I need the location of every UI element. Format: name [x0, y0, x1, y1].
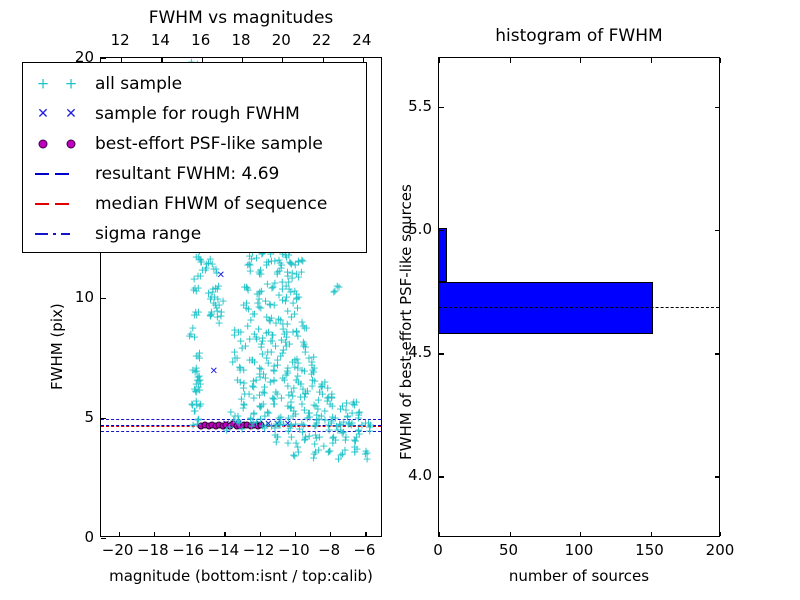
legend-item[interactable]: ✕✕sample for rough FWHM — [23, 99, 366, 128]
data-point-all-sample: + — [270, 360, 279, 371]
x-tick-label-bottom: −20 — [102, 541, 134, 559]
right-xaxis-label: number of sources — [438, 567, 720, 585]
data-point-all-sample: + — [254, 267, 263, 278]
data-point-all-sample: + — [236, 365, 245, 376]
data-point-all-sample: + — [255, 371, 264, 382]
figure-canvas: FWHM vs magnitudes 12141618202224 −20−18… — [0, 0, 800, 600]
x-tick-bottom — [189, 532, 190, 537]
legend-item-label: resultant FWHM: 4.69 — [95, 164, 279, 184]
data-point-all-sample: + — [332, 420, 341, 431]
data-point-all-sample: + — [293, 363, 302, 374]
data-point-all-sample: + — [330, 285, 339, 296]
y-tick-right — [715, 230, 720, 231]
data-point-all-sample: + — [230, 346, 239, 357]
data-point-all-sample: + — [284, 426, 293, 437]
data-point-all-sample: + — [188, 322, 197, 333]
annotation-line-resultant-fwhm — [439, 307, 719, 308]
data-point-all-sample: + — [263, 278, 272, 289]
dash-icon — [35, 173, 49, 175]
x-tick-bottom — [154, 532, 155, 537]
data-point-all-sample: + — [312, 409, 321, 420]
data-point-all-sample: + — [247, 354, 256, 365]
circle-icon — [39, 139, 48, 148]
x-tick-bottom — [224, 532, 225, 537]
x-tick-label-top: 14 — [151, 31, 170, 49]
x-tick-bottom — [330, 532, 331, 537]
x-tick-label: 200 — [706, 541, 735, 559]
data-point-all-sample: + — [261, 295, 270, 306]
y-tick-left — [101, 298, 106, 299]
data-point-all-sample: + — [309, 367, 318, 378]
x-tick-top — [510, 58, 511, 63]
data-point-all-sample: + — [195, 348, 204, 359]
legend-marker-dashdot-line — [23, 219, 95, 248]
y-tick-left — [439, 230, 444, 231]
y-tick-left — [101, 58, 106, 59]
x-tick-label-top: 16 — [191, 31, 210, 49]
cross-icon: ✕ — [37, 107, 49, 121]
data-point-all-sample: + — [263, 346, 272, 357]
y-tick-left — [101, 538, 106, 539]
data-point-all-sample: + — [242, 302, 251, 313]
x-tick-label: 150 — [635, 541, 664, 559]
y-tick-label: 5 — [56, 408, 94, 426]
legend-marker-cross: ✕✕ — [23, 99, 95, 128]
x-tick-top — [720, 58, 721, 63]
left-panel-title: FWHM vs magnitudes — [100, 8, 382, 28]
x-tick-label-top: 20 — [272, 31, 291, 49]
data-point-all-sample: + — [284, 389, 293, 400]
legend-item-label: sample for rough FWHM — [95, 104, 300, 124]
data-point-all-sample: + — [258, 421, 267, 432]
data-point-all-sample: + — [189, 273, 198, 284]
legend-item-label: sigma range — [95, 224, 201, 244]
x-tick-top — [439, 58, 440, 63]
data-point-all-sample: + — [243, 320, 252, 331]
x-tick-bottom — [260, 532, 261, 537]
dashdot-icon — [53, 233, 56, 235]
plus-icon: + — [37, 76, 50, 91]
histogram-plot-area — [439, 58, 719, 536]
x-tick-label-top: 22 — [312, 31, 331, 49]
data-point-all-sample: + — [296, 392, 305, 403]
data-point-all-sample: + — [192, 309, 201, 320]
legend-marker-dot — [23, 129, 95, 158]
data-point-all-sample: + — [255, 390, 264, 401]
data-point-all-sample: + — [309, 352, 318, 363]
data-point-all-sample: + — [290, 309, 299, 320]
x-tick-label-top: 18 — [231, 31, 250, 49]
right-panel-title: histogram of FWHM — [438, 26, 720, 46]
data-point-all-sample: + — [269, 374, 278, 385]
data-point-all-sample: + — [230, 325, 239, 336]
dashdot-icon — [61, 233, 70, 235]
histogram-bar[interactable] — [439, 282, 653, 334]
plus-icon: + — [65, 76, 78, 91]
x-tick-bottom — [720, 532, 721, 537]
data-point-all-sample: + — [349, 396, 358, 407]
data-point-all-sample: + — [282, 291, 291, 302]
x-tick-label: 0 — [433, 541, 443, 559]
legend-item[interactable]: best-effort PSF-like sample — [23, 129, 366, 158]
data-point-all-sample: + — [211, 263, 220, 274]
data-point-all-sample: + — [248, 417, 257, 428]
legend-item-label: median FHWM of sequence — [95, 194, 327, 214]
x-tick-top — [580, 58, 581, 63]
y-tick-left — [439, 476, 444, 477]
data-point-all-sample: + — [292, 374, 301, 385]
circle-icon — [67, 139, 76, 148]
legend-item[interactable]: resultant FWHM: 4.69 — [23, 159, 366, 188]
x-tick-label-top: 24 — [352, 31, 371, 49]
x-tick-label: 100 — [565, 541, 594, 559]
data-point-all-sample: + — [297, 267, 306, 278]
data-point-all-sample: + — [268, 335, 277, 346]
data-point-all-sample: + — [323, 392, 332, 403]
x-tick-bottom — [439, 532, 440, 537]
data-point-all-sample: + — [289, 450, 298, 461]
data-point-all-sample: + — [283, 438, 292, 449]
data-point-all-sample: + — [282, 326, 291, 337]
legend-marker-plus: ++ — [23, 69, 95, 98]
x-tick-label-bottom: −12 — [243, 541, 275, 559]
data-point-all-sample: + — [270, 393, 279, 404]
data-point-all-sample: + — [341, 434, 350, 445]
legend-marker-dashed-line — [23, 159, 95, 188]
data-point-all-sample: + — [214, 318, 223, 329]
legend-item[interactable]: ++all sample — [23, 69, 366, 98]
x-tick-label-bottom: −18 — [137, 541, 169, 559]
data-point-all-sample: + — [365, 426, 374, 437]
dash-icon — [55, 173, 69, 175]
x-tick-bottom — [119, 532, 120, 537]
x-tick-bottom — [295, 532, 296, 537]
x-tick-label-top: 12 — [111, 31, 130, 49]
data-point-all-sample: + — [352, 444, 361, 455]
x-tick-bottom — [510, 532, 511, 537]
data-point-all-sample: + — [192, 400, 201, 411]
data-point-all-sample: + — [292, 289, 301, 300]
y-tick-label: 5.5 — [382, 97, 432, 115]
data-point-all-sample: + — [270, 430, 279, 441]
x-tick-label: 50 — [499, 541, 518, 559]
dashdot-icon — [35, 233, 48, 235]
y-tick-right — [715, 476, 720, 477]
data-point-all-sample: + — [189, 285, 198, 296]
y-tick-right — [715, 107, 720, 108]
data-point-rough-sample: ✕ — [210, 367, 218, 377]
legend-item-label: all sample — [95, 74, 182, 94]
x-tick-bottom — [651, 532, 652, 537]
data-point-all-sample: + — [319, 440, 328, 451]
histogram-bar[interactable] — [439, 228, 447, 282]
legend-box[interactable]: ++all sample✕✕sample for rough FWHMbest-… — [22, 62, 367, 253]
data-point-all-sample: + — [282, 340, 291, 351]
legend-marker-dashed-line — [23, 189, 95, 218]
left-xaxis-label: magnitude (bottom:isnt / top:calib) — [100, 567, 382, 585]
histogram-panel[interactable] — [438, 57, 720, 537]
legend-item[interactable]: sigma range — [23, 219, 366, 248]
legend-item-label: best-effort PSF-like sample — [95, 134, 323, 154]
data-point-all-sample: + — [240, 399, 249, 410]
x-tick-label-bottom: −16 — [172, 541, 204, 559]
y-tick-left — [439, 353, 444, 354]
data-point-all-sample: + — [210, 291, 219, 302]
data-point-all-sample: + — [195, 371, 204, 382]
y-tick-left — [101, 418, 106, 419]
x-tick-label-bottom: −8 — [318, 541, 340, 559]
x-tick-bottom — [580, 532, 581, 537]
y-tick-label: 0 — [56, 528, 94, 546]
data-point-all-sample: + — [334, 454, 343, 465]
data-point-all-sample: + — [274, 314, 283, 325]
data-point-all-sample: + — [331, 435, 340, 446]
dash-icon — [55, 203, 69, 205]
data-point-all-sample: + — [245, 334, 254, 345]
data-point-all-sample: + — [270, 300, 279, 311]
data-point-all-sample: + — [363, 447, 372, 458]
dash-icon — [35, 203, 49, 205]
data-point-all-sample: + — [314, 395, 323, 406]
x-tick-label-bottom: −6 — [353, 541, 375, 559]
y-tick-left — [439, 107, 444, 108]
x-tick-bottom — [365, 532, 366, 537]
x-tick-top — [651, 58, 652, 63]
data-point-all-sample: + — [242, 281, 251, 292]
right-yaxis-label: FWHM of best-effort PSF-like sources — [397, 184, 415, 460]
left-yaxis-label: FWHM (pix) — [48, 303, 66, 390]
x-tick-label-bottom: −10 — [278, 541, 310, 559]
x-tick-label-bottom: −14 — [208, 541, 240, 559]
data-point-all-sample: + — [194, 413, 203, 424]
cross-icon: ✕ — [65, 107, 77, 121]
legend-item[interactable]: median FHWM of sequence — [23, 189, 366, 218]
data-point-all-sample: + — [233, 416, 242, 427]
y-tick-label: 4.0 — [382, 466, 432, 484]
data-point-all-sample: + — [281, 370, 290, 381]
data-point-all-sample: + — [263, 407, 272, 418]
data-point-all-sample: + — [195, 384, 204, 395]
data-point-all-sample: + — [283, 267, 292, 278]
y-tick-right — [715, 353, 720, 354]
data-point-all-sample: + — [258, 335, 267, 346]
